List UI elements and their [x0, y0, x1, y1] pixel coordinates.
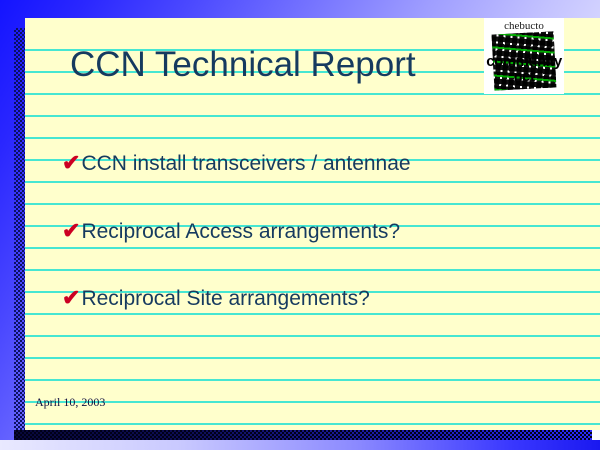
- slide-date: April 10, 2003: [35, 395, 105, 410]
- page-title: CCN Technical Report: [70, 44, 416, 86]
- checkmark-icon: ✔: [62, 285, 80, 310]
- logo-net-text: net: [484, 68, 564, 85]
- logo-top-word: chebucto: [484, 20, 564, 32]
- list-item-label: Reciprocal Site arrangements?: [81, 287, 369, 310]
- list-item: ✔Reciprocal Site arrangements?: [62, 285, 370, 311]
- checkmark-icon: ✔: [62, 218, 80, 243]
- checkmark-icon: ✔: [62, 150, 80, 175]
- list-item-label: Reciprocal Access arrangements?: [81, 220, 400, 243]
- bottom-gradient-band: [0, 440, 600, 450]
- slide-canvas: CCN Technical Report chebucto community …: [0, 0, 600, 450]
- chebucto-community-net-logo: chebucto community net: [484, 18, 564, 94]
- paper-left-shadow: [14, 28, 25, 436]
- list-item: ✔Reciprocal Access arrangements?: [62, 218, 400, 244]
- list-item-label: CCN install transceivers / antennae: [81, 152, 410, 175]
- list-item: ✔CCN install transceivers / antennae: [62, 150, 411, 176]
- ruled-paper: CCN Technical Report chebucto community …: [25, 18, 600, 430]
